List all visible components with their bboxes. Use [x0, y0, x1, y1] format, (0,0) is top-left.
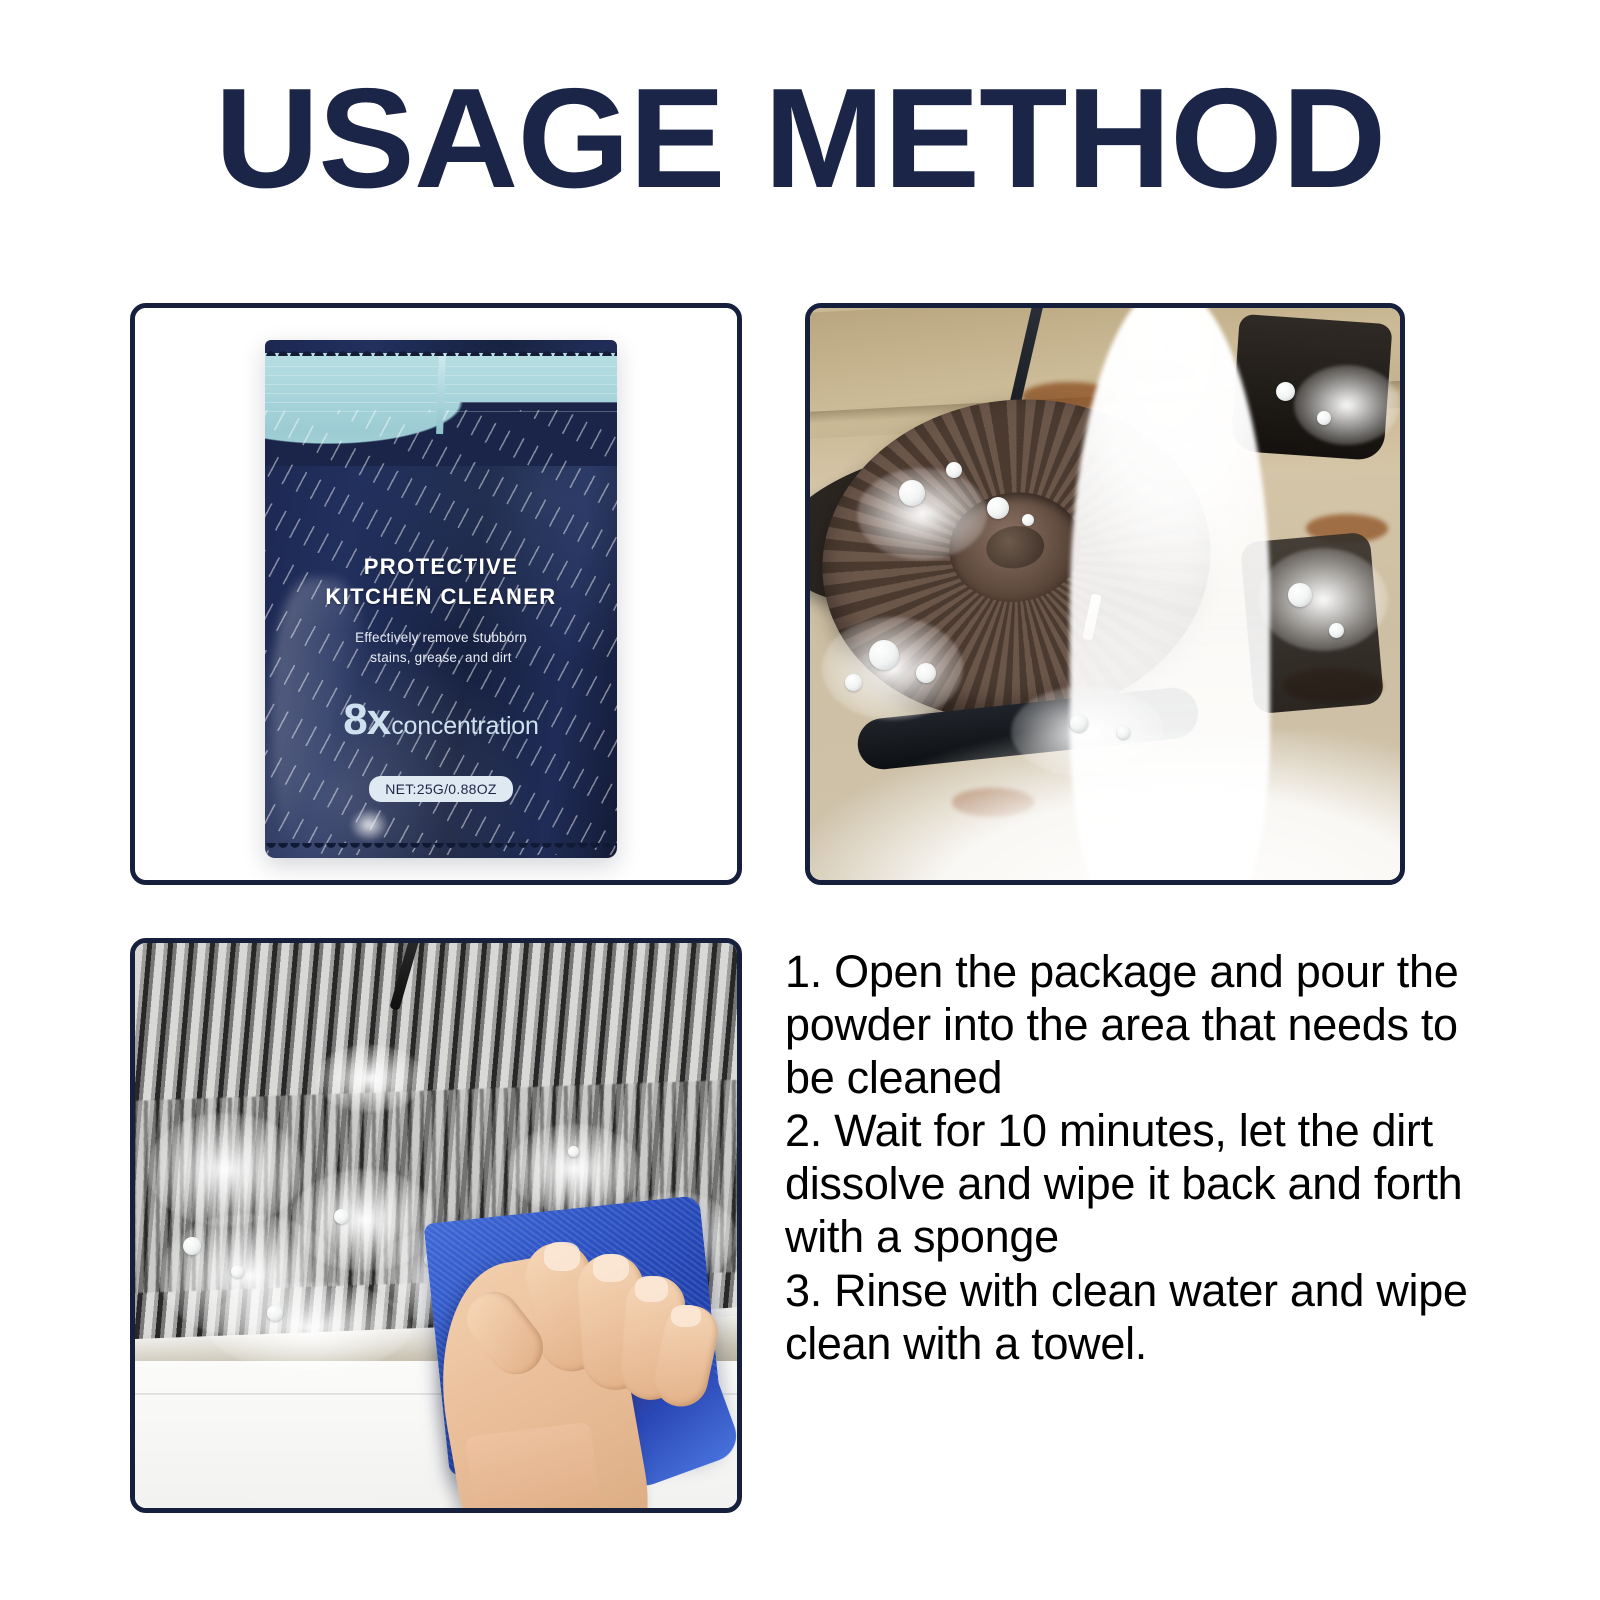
foam-bubble — [183, 1237, 201, 1255]
package-subtitle-line1: Effectively remove stubborn — [265, 628, 617, 648]
foam-patch — [822, 617, 964, 720]
foam-bubble — [1070, 714, 1088, 732]
package-serrated-edge-icon — [265, 340, 617, 356]
fingernail — [544, 1242, 580, 1270]
foam-patch — [1258, 548, 1388, 651]
stove-photo — [810, 308, 1400, 880]
instruction-step-2: 2. Wait for 10 minutes, let the dirt dis… — [785, 1104, 1485, 1263]
foam-patch — [508, 1124, 640, 1214]
instruction-step-1: 1. Open the package and pour the powder … — [785, 945, 1485, 1104]
package-bottom-edge-icon — [265, 843, 617, 858]
foam-patch — [207, 1282, 412, 1372]
foam-patch — [316, 1045, 424, 1113]
panel-product-package: PROTECTIVE KITCHEN CLEANER Effectively r… — [130, 303, 742, 885]
foam-bubble — [1288, 583, 1312, 607]
foam-bubble — [869, 640, 899, 670]
foam-bubble — [987, 497, 1009, 519]
foam-bubble — [899, 480, 925, 506]
foam-bubble — [334, 1209, 349, 1224]
fingernail — [593, 1254, 629, 1282]
package-concentration-value: 8x — [343, 698, 390, 742]
package-net-weight-text: NET:25G/0.88OZ — [369, 776, 513, 802]
package-subtitle-line2: stains, grease, and dirt — [265, 648, 617, 668]
fingernail — [671, 1305, 701, 1328]
foam-patch — [857, 468, 987, 560]
foam-bubble — [1117, 726, 1130, 739]
product-sachet: PROTECTIVE KITCHEN CLEANER Effectively r… — [265, 340, 617, 858]
package-title: PROTECTIVE KITCHEN CLEANER — [265, 552, 617, 611]
package-gloss-spot — [349, 808, 389, 842]
package-photo: PROTECTIVE KITCHEN CLEANER Effectively r… — [135, 308, 737, 880]
foam-bubble — [916, 663, 936, 683]
foam-patch — [147, 1113, 304, 1226]
range-hood-photo — [135, 943, 737, 1508]
foam-bubble — [1329, 623, 1344, 638]
panel-stove-foam — [805, 303, 1405, 885]
foam-patch — [1294, 365, 1400, 445]
package-title-line2: KITCHEN CLEANER — [265, 582, 617, 612]
panel-range-hood-wipe — [130, 938, 742, 1513]
foam-patch — [1011, 686, 1164, 778]
package-concentration-label: concentration — [391, 714, 539, 739]
package-net-weight-badge: NET:25G/0.88OZ — [265, 776, 617, 802]
package-subtitle: Effectively remove stubborn stains, grea… — [265, 628, 617, 669]
instruction-step-3: 3. Rinse with clean water and wipe clean… — [785, 1264, 1485, 1370]
page-title: USAGE METHOD — [0, 68, 1600, 210]
foam-bubble — [267, 1305, 283, 1321]
fingernail — [635, 1276, 668, 1301]
instructions-list: 1. Open the package and pour the powder … — [785, 945, 1485, 1370]
wrist — [465, 1422, 606, 1508]
package-title-line1: PROTECTIVE — [265, 552, 617, 582]
package-concentration: 8x concentration — [265, 698, 617, 742]
